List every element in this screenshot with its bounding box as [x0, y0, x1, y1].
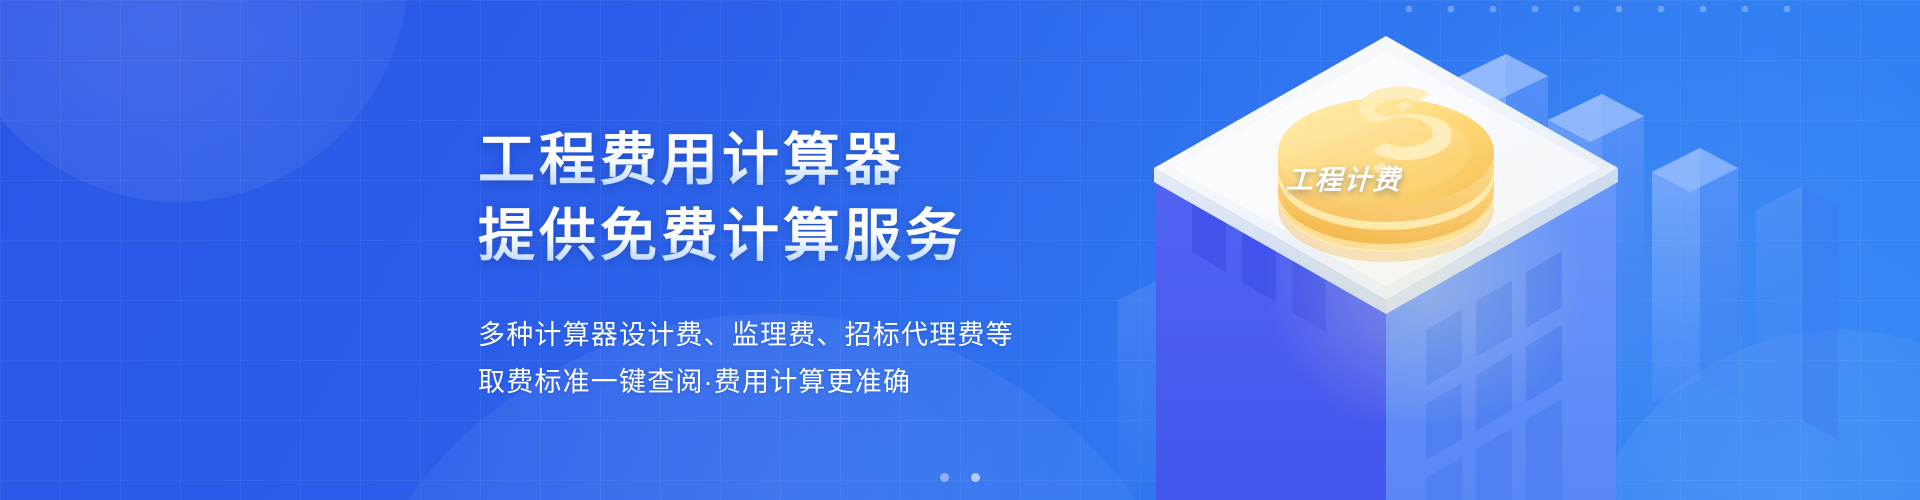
banner-title-line-2: 提供免费计算服务: [478, 202, 1118, 270]
carousel-dot-1[interactable]: [940, 473, 949, 482]
banner-illustration: 工程计费: [1096, 0, 1920, 500]
illustration-badge-label: 工程计费: [1285, 158, 1402, 197]
banner-copy-block: 工程费用计算器 提供免费计算服务 多种计算器设计费、监理费、招标代理费等 取费标…: [478, 126, 1118, 406]
banner-description-line-1: 多种计算器设计费、监理费、招标代理费等: [478, 312, 1118, 359]
banner-title-line-1: 工程费用计算器: [478, 126, 1118, 194]
banner-description-line-2: 取费标准一键查阅·费用计算更准确: [478, 359, 1118, 406]
top-left-circle-decoration: [0, 0, 408, 202]
carousel-dot-2[interactable]: [971, 473, 980, 482]
banner-description: 多种计算器设计费、监理费、招标代理费等 取费标准一键查阅·费用计算更准确: [478, 312, 1118, 406]
hero-banner: 工程计费 工程费用计算器 提供免费计算服务 多种计算器设计费、监理费、招标代理费…: [0, 0, 1920, 500]
carousel-dots[interactable]: [940, 473, 980, 482]
